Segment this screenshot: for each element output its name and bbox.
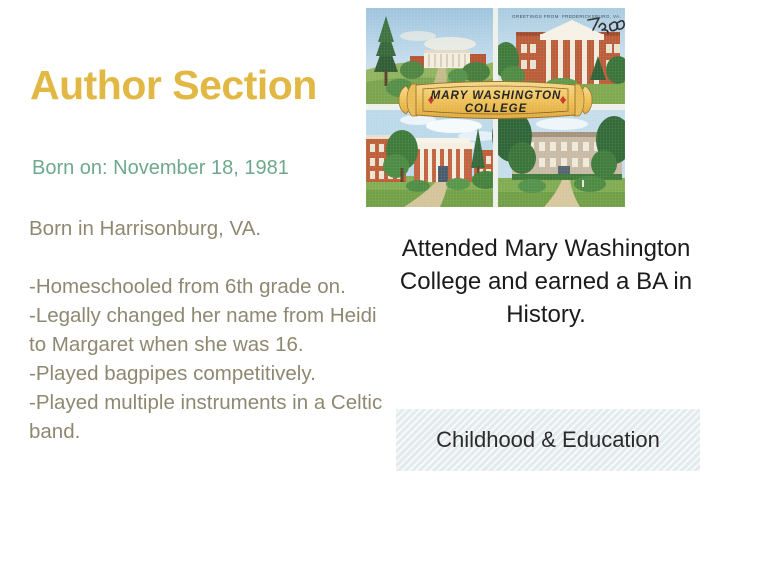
slide-canvas: Author Section Born on: November 18, 198… xyxy=(0,0,768,561)
childhood-education-box: Childhood & Education xyxy=(396,409,700,471)
body-line-name-change: -Legally changed her name from Heidi to … xyxy=(29,301,389,359)
body-spacer xyxy=(29,243,389,272)
childhood-education-label: Childhood & Education xyxy=(436,427,660,453)
postcard-artwork: GREETINGS FROM FREDERICKSBURG, VA. xyxy=(366,8,625,207)
body-line-birthplace: Born in Harrisonburg, VA. xyxy=(29,214,389,243)
body-line-celtic-band: -Played multiple instruments in a Celtic… xyxy=(29,388,389,446)
body-line-bagpipes: -Played bagpipes competitively. xyxy=(29,359,389,388)
body-line-homeschool: -Homeschooled from 6th grade on. xyxy=(29,272,389,301)
postcard-linen-texture xyxy=(366,8,625,207)
mary-washington-college-postcard-image: GREETINGS FROM FREDERICKSBURG, VA. xyxy=(366,8,625,207)
born-on-line: Born on: November 18, 1981 xyxy=(32,157,289,180)
education-paragraph: Attended Mary Washington College and ear… xyxy=(398,232,694,331)
page-title: Author Section xyxy=(30,62,317,109)
left-body-text: Born in Harrisonburg, VA. -Homeschooled … xyxy=(29,214,389,446)
